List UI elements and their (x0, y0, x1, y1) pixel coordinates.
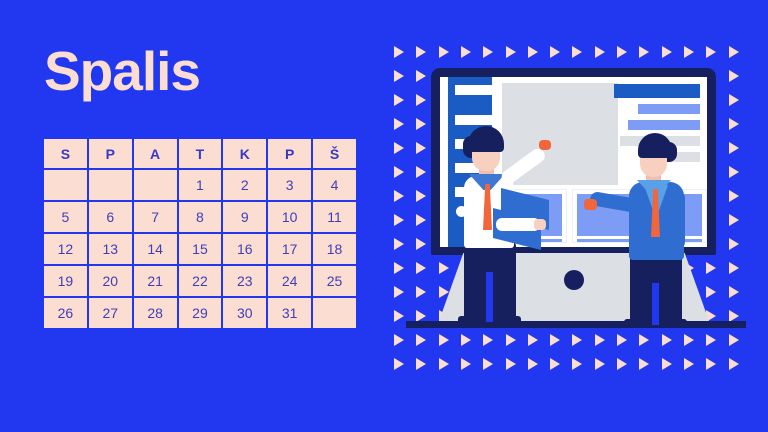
day-cell[interactable]: 16 (223, 234, 266, 264)
day-cell[interactable]: 27 (89, 298, 132, 328)
triangle-right-icon (483, 334, 493, 346)
calendar-weekday-header-row: S P A T K P Š (44, 139, 356, 168)
triangle-right-icon (729, 214, 739, 226)
presenter-right (600, 133, 710, 328)
triangle-right-icon (572, 358, 582, 370)
day-cell[interactable]: 18 (313, 234, 356, 264)
day-cell[interactable]: 24 (268, 266, 311, 296)
triangle-right-icon (595, 334, 605, 346)
sidebar-bar (455, 115, 493, 125)
triangle-right-icon (706, 334, 716, 346)
triangle-right-icon (416, 166, 426, 178)
calendar-week-row: 19 20 21 22 23 24 25 (44, 266, 356, 296)
triangle-right-icon (394, 262, 404, 274)
presenter-left-raised-hand (539, 140, 551, 150)
triangle-right-icon (416, 118, 426, 130)
triangle-right-icon (394, 310, 404, 322)
triangle-right-icon (416, 262, 426, 274)
triangle-right-icon (617, 334, 627, 346)
triangle-right-icon (461, 334, 471, 346)
triangle-right-icon (729, 94, 739, 106)
triangle-right-icon (729, 118, 739, 130)
day-cell[interactable] (313, 298, 356, 328)
calendar-panel: Spalis S P A T K P Š 1 2 3 4 (0, 0, 384, 432)
triangle-right-icon (394, 238, 404, 250)
presenter-left-raised-arm (499, 146, 548, 187)
triangle-right-icon (439, 334, 449, 346)
triangle-right-icon (550, 358, 560, 370)
triangle-right-icon (639, 334, 649, 346)
triangle-right-icon (394, 142, 404, 154)
presenter-right-shoe (659, 319, 687, 327)
day-cell[interactable]: 1 (179, 170, 222, 200)
day-cell[interactable]: 28 (134, 298, 177, 328)
sidebar-bar (455, 85, 493, 95)
triangle-right-icon (572, 46, 582, 58)
presenter-left-shoe (493, 316, 521, 324)
day-cell[interactable]: 26 (44, 298, 87, 328)
triangle-right-icon (729, 166, 739, 178)
triangle-right-icon (416, 334, 426, 346)
triangle-right-icon (572, 334, 582, 346)
triangle-right-icon (617, 358, 627, 370)
triangle-right-icon (416, 190, 426, 202)
triangle-right-icon (662, 46, 672, 58)
triangle-right-icon (729, 334, 739, 346)
triangle-right-icon (416, 238, 426, 250)
triangle-right-icon (729, 70, 739, 82)
triangle-right-icon (394, 118, 404, 130)
triangle-right-icon (416, 286, 426, 298)
triangle-right-icon (662, 358, 672, 370)
day-cell[interactable]: 17 (268, 234, 311, 264)
day-cell[interactable] (44, 170, 87, 200)
triangle-right-icon (394, 190, 404, 202)
triangle-right-icon (394, 94, 404, 106)
weekday-header-1: P (89, 139, 132, 168)
page-title: Spalis (44, 44, 200, 99)
day-cell[interactable]: 9 (223, 202, 266, 232)
day-cell[interactable]: 30 (223, 298, 266, 328)
weekday-header-4: K (223, 139, 266, 168)
calendar-week-row: 26 27 28 29 30 31 (44, 298, 356, 328)
calendar-week-row: 1 2 3 4 (44, 170, 356, 200)
day-cell[interactable]: 23 (223, 266, 266, 296)
day-cell[interactable]: 6 (89, 202, 132, 232)
day-cell[interactable]: 19 (44, 266, 87, 296)
triangle-right-icon (639, 358, 649, 370)
triangle-right-icon (394, 46, 404, 58)
triangle-right-icon (662, 334, 672, 346)
triangle-right-icon (394, 214, 404, 226)
triangle-right-icon (729, 142, 739, 154)
triangle-right-icon (528, 46, 538, 58)
triangle-right-icon (595, 358, 605, 370)
screen-right-bar (628, 120, 700, 130)
presenter-right-arm (670, 191, 685, 249)
presenter-left-shoe (458, 316, 486, 324)
calendar-week-row: 5 6 7 8 9 10 11 (44, 202, 356, 232)
business-presentation-illustration (384, 0, 768, 432)
triangle-right-icon (729, 238, 739, 250)
triangle-right-icon (684, 358, 694, 370)
calendar-week-row: 12 13 14 15 16 17 18 (44, 234, 356, 264)
presenter-left-hair (468, 126, 504, 152)
day-cell[interactable]: 2 (223, 170, 266, 200)
triangle-right-icon (506, 358, 516, 370)
presenter-right-hair (638, 133, 672, 158)
triangle-right-icon (729, 190, 739, 202)
triangle-right-icon (550, 46, 560, 58)
presenter-right-leg-gap (652, 283, 659, 325)
triangle-right-icon (729, 46, 739, 58)
triangle-right-icon (394, 286, 404, 298)
day-cell[interactable]: 22 (179, 266, 222, 296)
triangle-right-icon (394, 334, 404, 346)
triangle-right-icon (684, 334, 694, 346)
day-cell[interactable]: 14 (134, 234, 177, 264)
triangle-right-icon (729, 286, 739, 298)
presenter-right-shoe (624, 319, 652, 327)
triangle-right-icon (528, 358, 538, 370)
day-cell[interactable]: 5 (44, 202, 87, 232)
day-cell[interactable]: 11 (313, 202, 356, 232)
weekday-header-0: S (44, 139, 87, 168)
triangle-right-icon (416, 94, 426, 106)
screen-right-bar (614, 84, 700, 98)
screen-right-bar (638, 104, 700, 114)
triangle-right-icon (706, 358, 716, 370)
triangle-right-icon (416, 358, 426, 370)
day-cell[interactable]: 12 (44, 234, 87, 264)
triangle-right-icon (461, 46, 471, 58)
triangle-right-icon (394, 70, 404, 82)
day-cell[interactable] (134, 170, 177, 200)
triangle-right-icon (706, 46, 716, 58)
day-cell[interactable]: 20 (89, 266, 132, 296)
presenter-left-hand (534, 219, 546, 230)
day-cell[interactable]: 21 (134, 266, 177, 296)
triangle-right-icon (439, 46, 449, 58)
triangle-right-icon (684, 46, 694, 58)
triangle-right-icon (483, 46, 493, 58)
weekday-header-6: Š (313, 139, 356, 168)
day-cell[interactable]: 15 (179, 234, 222, 264)
triangle-right-icon (461, 358, 471, 370)
triangle-right-icon (416, 46, 426, 58)
triangle-right-icon (729, 358, 739, 370)
day-cell[interactable]: 25 (313, 266, 356, 296)
base-button-circle (564, 270, 584, 290)
triangle-right-icon (416, 70, 426, 82)
presenter-left-leg-gap (486, 272, 493, 322)
triangle-right-icon (394, 358, 404, 370)
triangle-right-icon (617, 46, 627, 58)
day-cell[interactable]: 10 (268, 202, 311, 232)
day-cell[interactable]: 4 (313, 170, 356, 200)
calendar-grid: S P A T K P Š 1 2 3 4 5 6 7 (42, 137, 358, 330)
weekday-header-2: A (134, 139, 177, 168)
triangle-right-icon (528, 334, 538, 346)
triangle-right-icon (483, 358, 493, 370)
triangle-right-icon (639, 46, 649, 58)
triangle-right-icon (550, 334, 560, 346)
weekday-header-5: P (268, 139, 311, 168)
weekday-header-3: T (179, 139, 222, 168)
day-cell[interactable]: 31 (268, 298, 311, 328)
day-cell[interactable]: 7 (134, 202, 177, 232)
day-cell[interactable]: 13 (89, 234, 132, 264)
triangle-right-icon (506, 334, 516, 346)
triangle-right-icon (416, 214, 426, 226)
triangle-right-icon (439, 358, 449, 370)
presenter-right-pointing-hand (584, 199, 597, 210)
triangle-right-icon (394, 166, 404, 178)
day-cell[interactable]: 3 (268, 170, 311, 200)
presenter-left (441, 126, 553, 326)
triangle-right-icon (416, 142, 426, 154)
day-cell[interactable]: 8 (179, 202, 222, 232)
triangle-right-icon (729, 262, 739, 274)
day-cell[interactable] (89, 170, 132, 200)
day-cell[interactable]: 29 (179, 298, 222, 328)
triangle-right-icon (506, 46, 516, 58)
triangle-right-icon (595, 46, 605, 58)
